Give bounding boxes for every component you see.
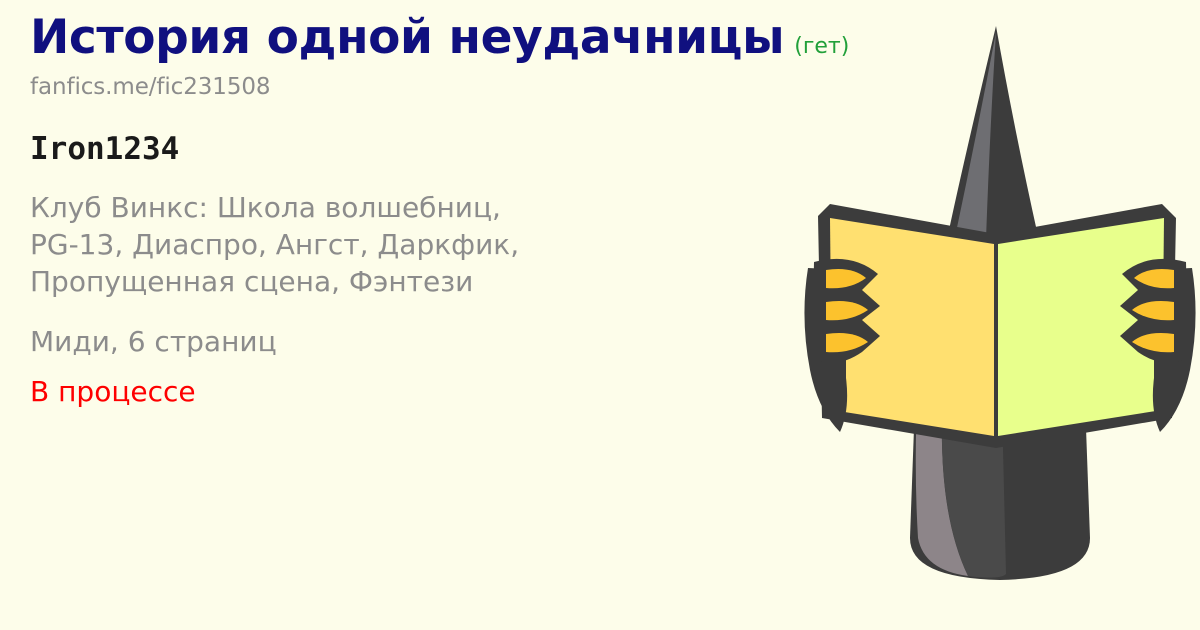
tags-list: Клуб Винкс: Школа волшебниц, PG-13, Диас… [30,190,760,301]
right-hand-fingers [1132,269,1174,352]
author-name[interactable]: Iron1234 [30,132,900,166]
genre-tag: (гет) [794,34,849,59]
page-title: История одной неудачницы [30,10,784,65]
witch-hat [904,26,1092,293]
tags-line-2: PG-13, Диаспро, Ангст, Даркфик, [30,227,760,264]
status-badge: В процессе [30,375,900,409]
hat-buckle-icon [1014,228,1056,274]
fanfic-preview-card: История одной неудачницы(гет) fanfics.me… [0,0,1200,630]
witch-robe [910,318,1090,580]
tags-line-1: Клуб Винкс: Школа волшебниц, [30,190,760,227]
story-size: Миди, 6 страниц [30,325,900,359]
tags-line-3: Пропущенная сцена, Фэнтези [30,264,760,301]
source-url: fanfics.me/fic231508 [30,75,900,100]
story-info-column: История одной неудачницы(гет) fanfics.me… [30,14,900,408]
right-hand [1120,259,1196,432]
title-row: История одной неудачницы(гет) [30,14,900,61]
